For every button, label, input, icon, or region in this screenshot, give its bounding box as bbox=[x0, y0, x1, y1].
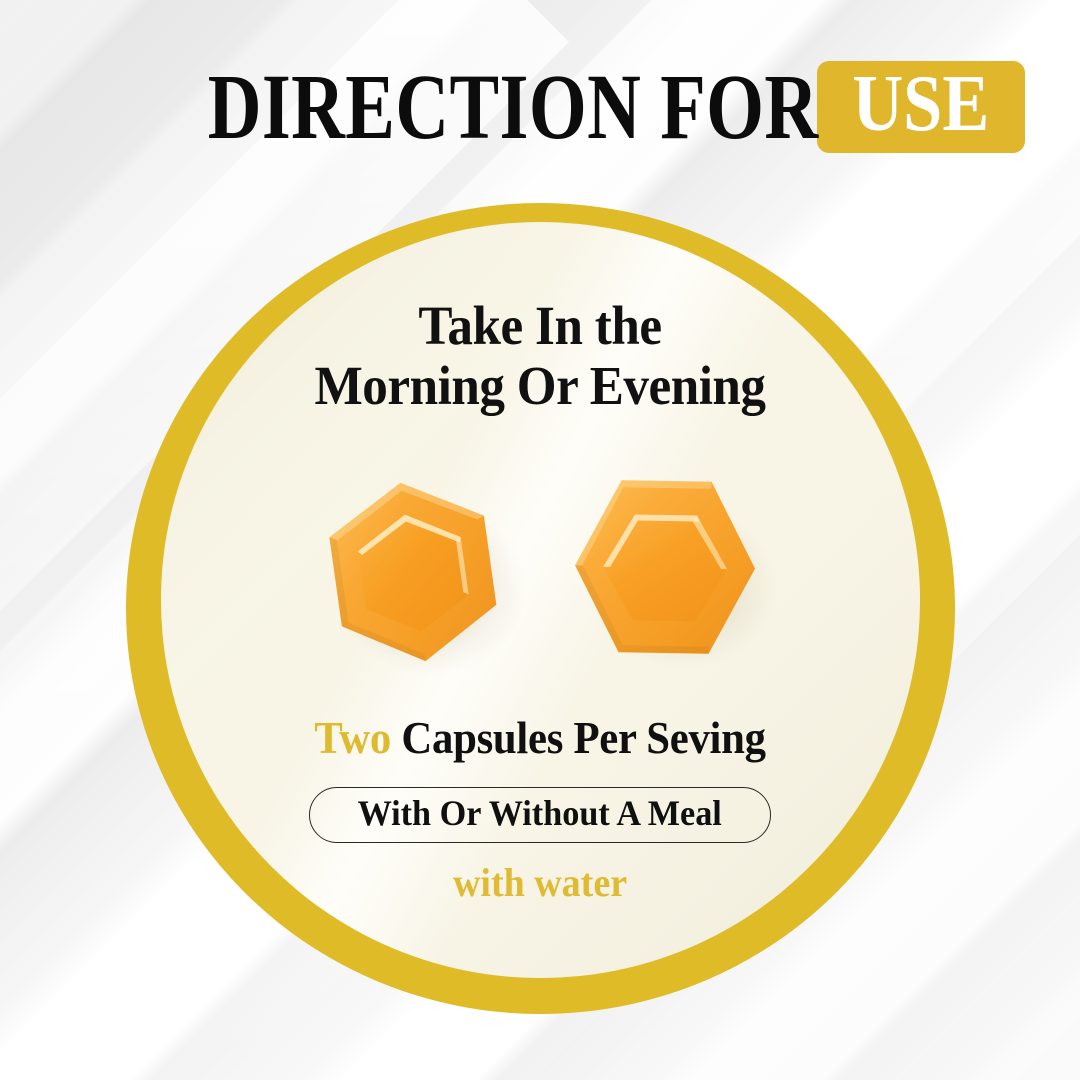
tablet-group bbox=[0, 450, 1080, 680]
meal-note-wrap: With Or Without A Meal bbox=[0, 787, 1080, 843]
use-badge: USE bbox=[817, 61, 1025, 153]
tablet-left bbox=[313, 474, 523, 679]
hexagon-tablet-icon bbox=[313, 474, 523, 679]
poster-canvas: DIRECTION FOR USE Take In the Morning Or… bbox=[0, 0, 1080, 1080]
tablet-right bbox=[562, 475, 777, 675]
header: DIRECTION FOR USE bbox=[0, 54, 1080, 160]
serving-line: Two Capsules Per Seving bbox=[27, 716, 1053, 761]
page-title: DIRECTION FOR bbox=[208, 61, 819, 154]
headline: Take In the Morning Or Evening bbox=[0, 299, 1080, 414]
use-badge-label: USE bbox=[852, 64, 989, 144]
headline-line-1: Take In the bbox=[38, 299, 1042, 353]
meal-note-label: With Or Without A Meal bbox=[358, 795, 722, 831]
water-note: with water bbox=[27, 863, 1053, 903]
hexagon-tablet-icon bbox=[562, 475, 777, 675]
directions-text-block: Two Capsules Per Seving With Or Without … bbox=[0, 716, 1080, 903]
serving-count: Two bbox=[314, 713, 391, 763]
meal-note-pill: With Or Without A Meal bbox=[309, 787, 770, 843]
headline-line-2: Morning Or Evening bbox=[38, 359, 1042, 413]
serving-label: Capsules Per Seving bbox=[391, 713, 766, 763]
